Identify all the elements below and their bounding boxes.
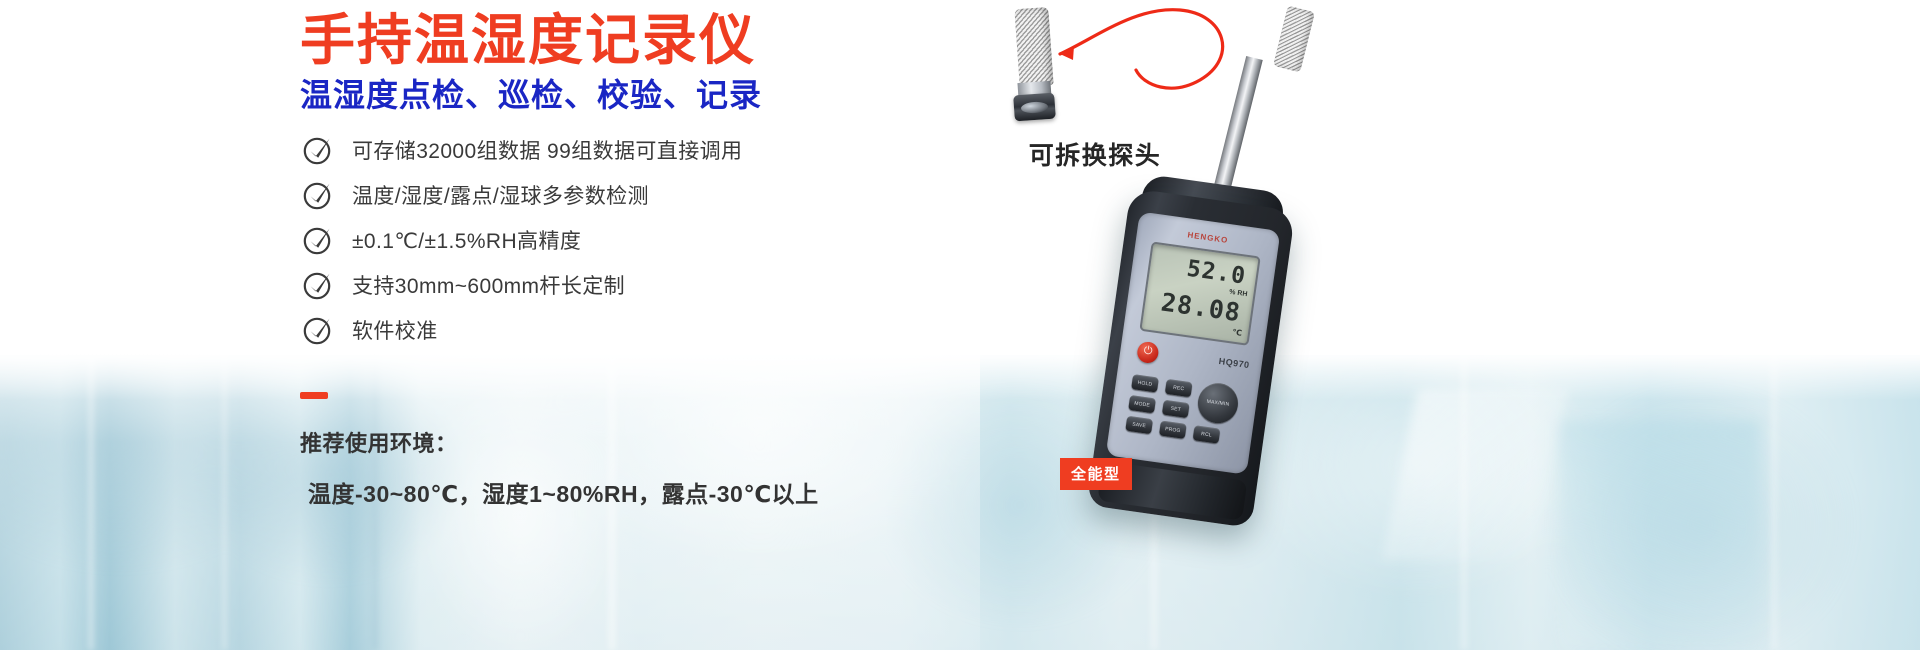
curved-arrow-icon: [1040, 2, 1240, 112]
feature-label: 软件校准: [352, 315, 438, 345]
key-rec[interactable]: REC: [1165, 379, 1193, 397]
key-label: REC: [1165, 379, 1193, 397]
check-circle-icon: [302, 224, 334, 256]
environment-title: 推荐使用环境：: [300, 426, 819, 458]
key-label: MODE: [1128, 395, 1156, 413]
product-image: 可拆换探头 HENGKO 52.0 % RH 28.08 ℃: [960, 0, 1660, 650]
check-circle-icon: [302, 179, 334, 211]
list-item: 软件校准: [302, 307, 742, 352]
feature-label: 温度/湿度/露点/湿球多参数检测: [352, 180, 649, 210]
list-item: ±0.1℃/±1.5%RH高精度: [302, 217, 742, 262]
status-badge: 全能型: [1060, 458, 1132, 490]
check-circle-icon: [302, 314, 334, 346]
environment-detail: 温度-30~80℃，湿度1~80%RH，露点-30℃以上: [300, 475, 819, 509]
key-label: RCL: [1193, 425, 1221, 443]
key-set[interactable]: SET: [1162, 400, 1190, 418]
list-item: 温度/湿度/露点/湿球多参数检测: [302, 172, 742, 217]
key-label: SAVE: [1125, 416, 1153, 434]
key-prog[interactable]: PROG: [1159, 420, 1187, 438]
red-dash-divider: [300, 392, 328, 399]
probe-label: 可拆换探头: [980, 136, 1210, 172]
model-label: HQ970: [1218, 356, 1250, 370]
feature-label: 支持30mm~600mm杆长定制: [352, 270, 625, 300]
environment-block: 推荐使用环境： 温度-30~80℃，湿度1~80%RH，露点-30℃以上: [300, 392, 819, 509]
key-save[interactable]: SAVE: [1125, 416, 1153, 434]
list-item: 支持30mm~600mm杆长定制: [302, 262, 742, 307]
key-label: PROG: [1159, 420, 1187, 438]
temperature-unit: ℃: [1232, 328, 1243, 338]
feature-label: 可存储32000组数据 99组数据可直接调用: [352, 135, 742, 165]
product-banner: 手持温湿度记录仪 温湿度点检、巡检、校验、记录 可存储32000组数据 99组数…: [0, 0, 1920, 650]
key-hold[interactable]: HOLD: [1131, 374, 1159, 392]
power-button[interactable]: [1136, 341, 1160, 365]
check-circle-icon: [302, 269, 334, 301]
lcd-display: 52.0 % RH 28.08 ℃: [1139, 241, 1260, 345]
key-navigation-dial[interactable]: MAX/MIN: [1195, 381, 1240, 426]
key-label: HOLD: [1131, 374, 1159, 392]
page-subtitle: 温湿度点检、巡检、校验、记录: [300, 78, 762, 113]
feature-label: ±0.1℃/±1.5%RH高精度: [352, 225, 581, 255]
key-label: MAX/MIN: [1195, 381, 1240, 426]
feature-list: 可存储32000组数据 99组数据可直接调用 温度/湿度/露点/湿球多参数检测 …: [302, 127, 742, 352]
probe-sinter-tip: [1273, 6, 1315, 73]
key-mode[interactable]: MODE: [1128, 395, 1156, 413]
key-rcl[interactable]: RCL: [1193, 425, 1221, 443]
humidity-reading: 52.0: [1185, 256, 1247, 290]
check-circle-icon: [302, 134, 334, 166]
key-label: SET: [1162, 400, 1190, 418]
page-title: 手持温湿度记录仪: [300, 10, 756, 71]
keypad: HOLD REC MAX/MIN MODE SET SAVE PROG RCL: [1119, 374, 1246, 464]
list-item: 可存储32000组数据 99组数据可直接调用: [302, 127, 742, 172]
